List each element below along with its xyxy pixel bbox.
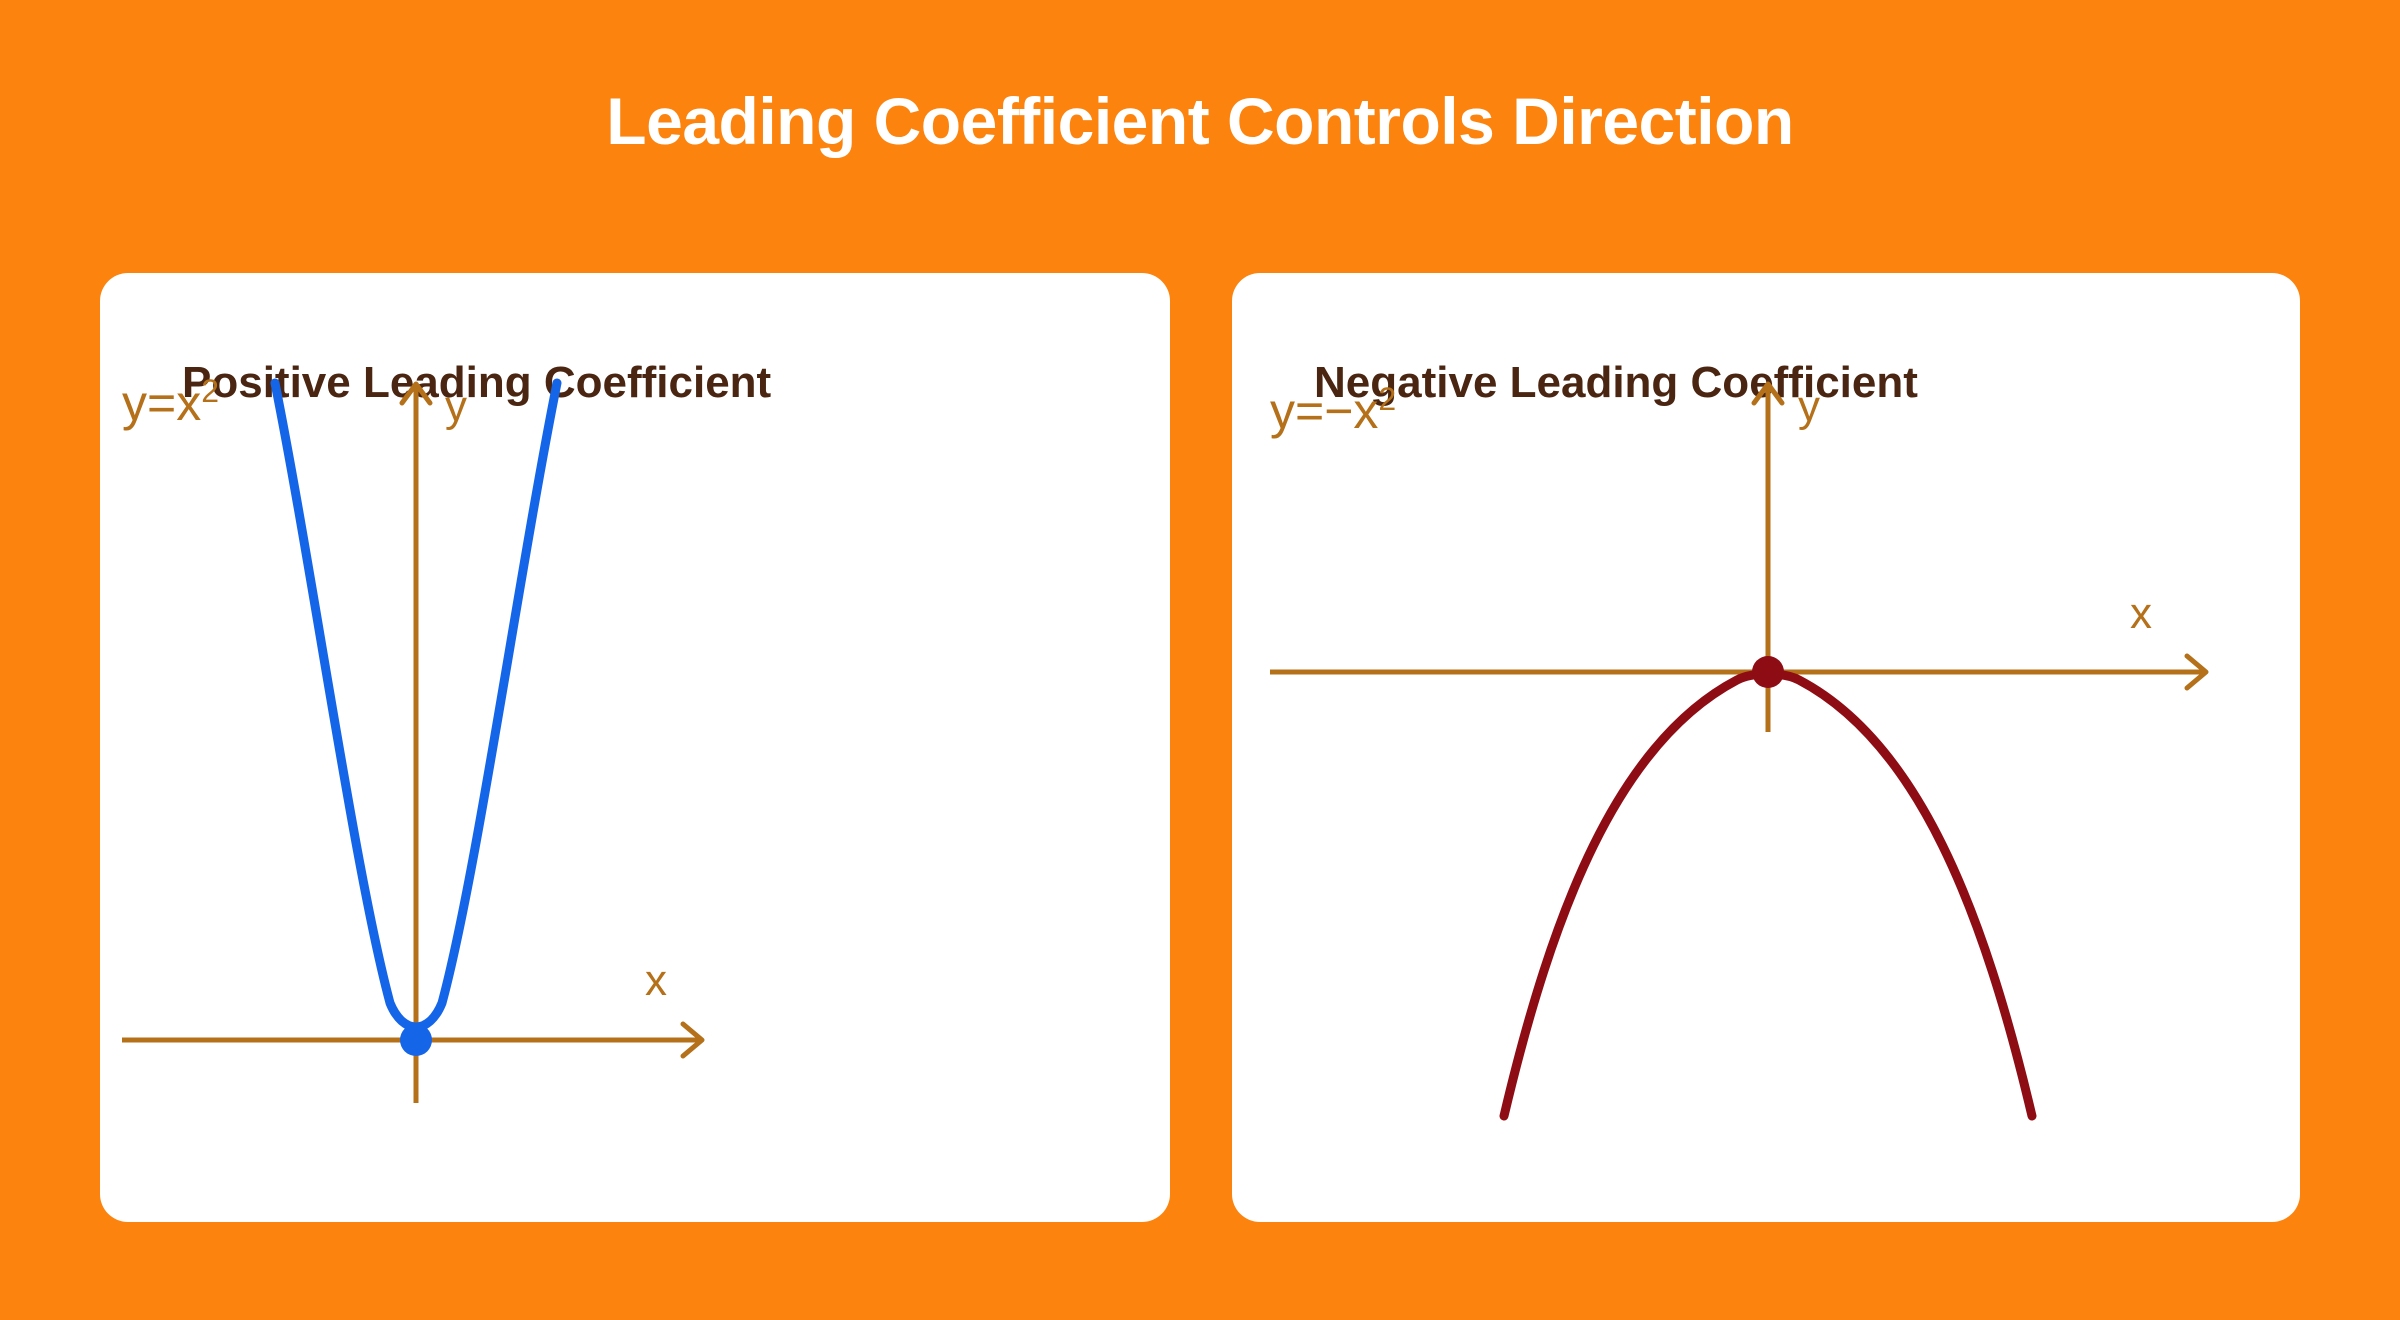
- equation-exponent-positive: 2: [201, 373, 219, 409]
- parabola-curve-negative: [1504, 674, 2032, 1116]
- equation-exponent-negative: 2: [1378, 381, 1396, 417]
- chart-negative-parabola: y=−x2 y x: [1232, 273, 2300, 1222]
- equation-label-positive: y=x2: [122, 373, 219, 431]
- equation-base-negative: y=−x: [1270, 383, 1378, 439]
- vertex-dot-negative: [1752, 656, 1784, 688]
- equation-label-negative: y=−x2: [1270, 381, 1396, 439]
- y-axis-label-negative: y: [1798, 382, 1820, 431]
- y-axis-label-positive: y: [445, 382, 467, 431]
- x-axis-label-negative: x: [2130, 589, 2152, 638]
- page-title: Leading Coefficient Controls Direction: [0, 88, 2400, 154]
- card-negative-leading-coefficient: Negative Leading Coefficient y=−x2 y x: [1232, 273, 2300, 1222]
- x-axis-label-positive: x: [645, 956, 667, 1005]
- chart-positive-parabola: y=x2 y x: [100, 273, 1170, 1222]
- card-positive-leading-coefficient: Positive Leading Coefficient y=x2 y x: [100, 273, 1170, 1222]
- vertex-dot-positive: [400, 1024, 432, 1056]
- equation-base-positive: y=x: [122, 375, 201, 431]
